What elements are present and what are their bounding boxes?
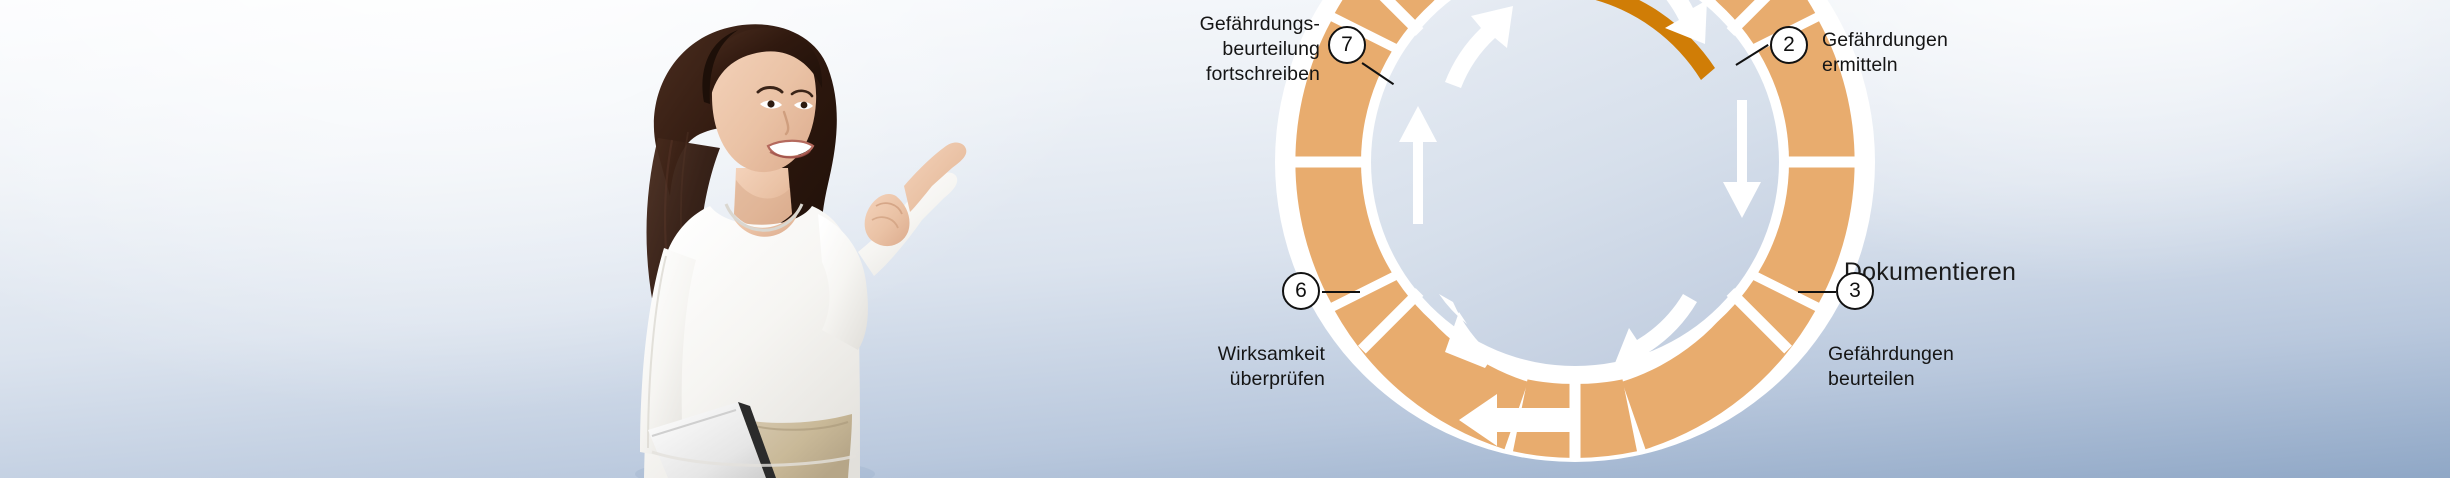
hand [865, 194, 910, 246]
banner-stage: Dokumentieren Gefährdungs- beurteilung f… [0, 0, 2450, 478]
leader-line-3 [1798, 291, 1836, 293]
step-label-6: Wirksamkeit überprüfen [1100, 342, 1325, 392]
step-badge-6[interactable]: 6 [1282, 272, 1320, 310]
step-label-2: Gefährdungen ermitteln [1822, 28, 2062, 78]
leader-line-6 [1322, 291, 1360, 293]
step-label-7: Gefährdungs- beurteilung fortschreiben [1110, 12, 1320, 87]
cycle-wheel [1245, 0, 1905, 478]
step-badge-7[interactable]: 7 [1328, 26, 1366, 64]
step-badge-3[interactable]: 3 [1836, 272, 1874, 310]
step-label-3: Gefährdungen beurteilen [1828, 342, 2068, 392]
woman-pointing-photo [560, 0, 980, 478]
step-badge-2[interactable]: 2 [1770, 26, 1808, 64]
eye-right [767, 100, 774, 107]
eye-left [801, 102, 808, 109]
